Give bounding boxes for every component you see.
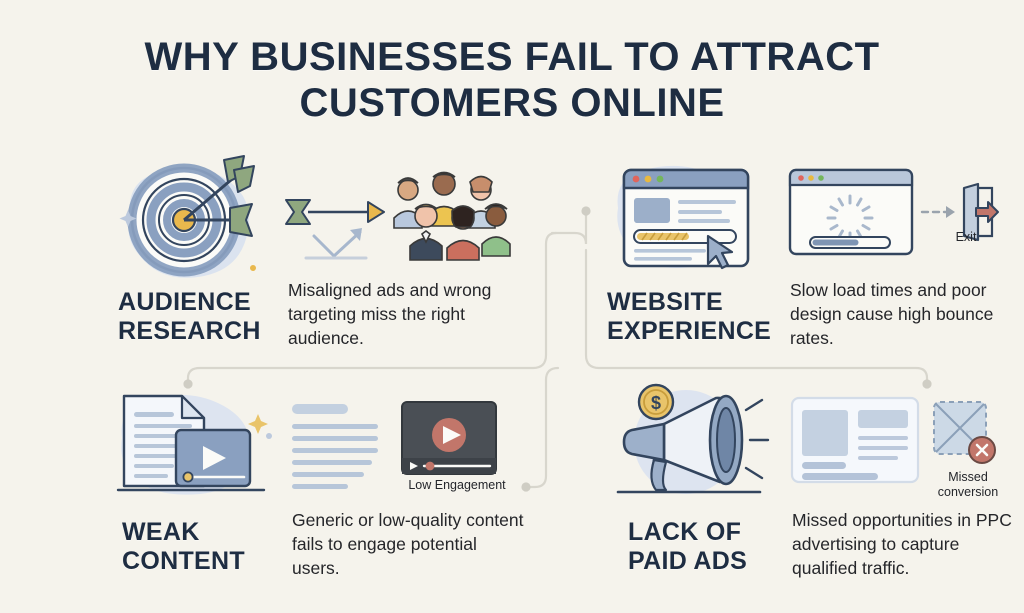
description-lack-of-paid-ads: Missed opportunities in PPC advertising … bbox=[792, 508, 1024, 580]
megaphone-with-coin-icon: $ bbox=[604, 386, 774, 506]
description-weak-content: Generic or low-quality content fails to … bbox=[292, 508, 524, 580]
document-with-video-icon bbox=[108, 386, 278, 504]
browser-window-loading-icon bbox=[604, 156, 764, 286]
trend-arrow-icon bbox=[306, 228, 366, 258]
missed-conversion-line-2: conversion bbox=[918, 485, 1018, 500]
target-with-arrow-icon bbox=[112, 152, 272, 292]
missed-conversion-line-1: Missed bbox=[918, 470, 1018, 485]
video-player-icon bbox=[402, 402, 496, 474]
page-title: WHY BUSINESSES FAIL TO ATTRACT CUSTOMERS… bbox=[0, 34, 1024, 126]
connector-dot-website bbox=[581, 206, 590, 215]
title-line-2: CUSTOMERS ONLINE bbox=[0, 80, 1024, 126]
title-line-1: WHY BUSINESSES FAIL TO ATTRACT bbox=[0, 34, 1024, 80]
exit-label: Exit bbox=[936, 230, 996, 245]
connector-dot-paid-ads bbox=[922, 379, 931, 388]
missed-conversion-label: Missed conversion bbox=[918, 470, 1018, 500]
infographic-canvas: WHY BUSINESSES FAIL TO ATTRACT CUSTOMERS… bbox=[0, 0, 1024, 613]
description-website-experience: Slow load times and poor design cause hi… bbox=[790, 278, 1022, 350]
browser-spinner-icon bbox=[786, 164, 994, 268]
connector-dot-low-engagement bbox=[521, 482, 530, 491]
missed-conversion-icon bbox=[934, 402, 995, 463]
low-engagement-label: Low Engagement bbox=[394, 478, 520, 493]
description-audience-research: Misaligned ads and wrong targeting miss … bbox=[288, 278, 520, 350]
arrow-right-icon bbox=[284, 192, 388, 264]
svg-text:$: $ bbox=[651, 393, 661, 413]
people-group-icon bbox=[386, 166, 506, 262]
